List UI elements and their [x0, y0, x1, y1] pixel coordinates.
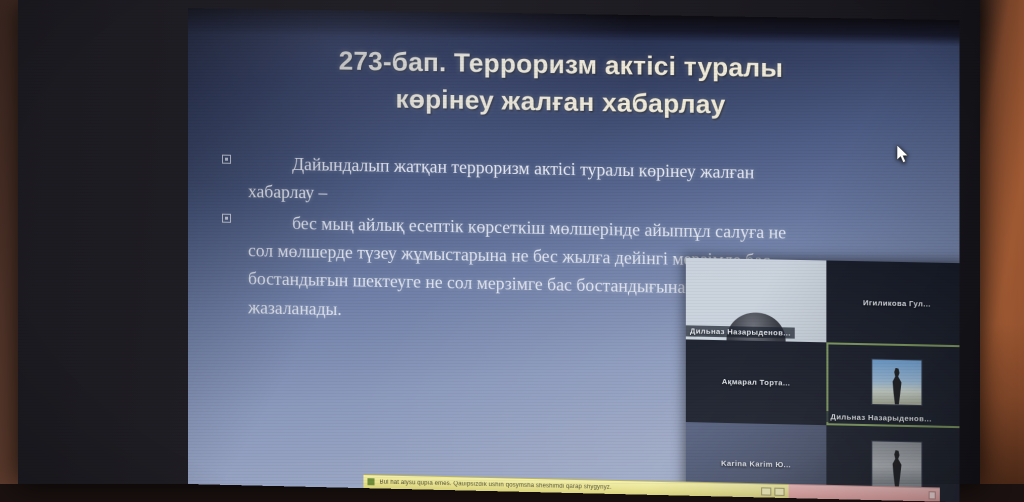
square-bullet-icon [222, 149, 248, 167]
participant-name-3: Ақмарал Торта... [686, 375, 827, 389]
square-bullet-icon [222, 207, 248, 226]
slide-title: 273-бап. Терроризм актісі туралы көрінеу… [208, 40, 916, 126]
security-warning-text: Bul hat alysu qupıa emes. Qauıpsızdık us… [380, 479, 759, 494]
slide-bullet-1: Дайындалып жатқан терроризм актісі турал… [222, 149, 788, 216]
participant-avatar-6 [871, 440, 922, 488]
alert-bar[interactable] [789, 484, 940, 502]
participant-tile-3[interactable]: Ақмарал Торта... [686, 340, 827, 425]
participant-tile-2[interactable]: Игиликова Гул... [826, 261, 959, 346]
screen-top-shadow [188, 8, 959, 46]
slide-bullet-1-text: Дайындалып жатқан терроризм актісі турал… [248, 149, 788, 216]
warning-bar-action-button[interactable] [761, 487, 771, 495]
avatar-figure-icon [889, 368, 905, 405]
participant-name-4: Дильназ Назарыденов... [826, 411, 935, 425]
video-call-participants-panel[interactable]: Дильназ Назарыденов... Игиликова Гул... … [686, 258, 959, 502]
participant-avatar-4 [871, 358, 922, 406]
shield-icon [367, 478, 374, 485]
warning-bar-close-button[interactable] [774, 487, 784, 495]
avatar-figure-icon [889, 450, 905, 487]
monitor-bezel: 273-бап. Терроризм актісі туралы көрінеу… [18, 0, 980, 484]
participant-tile-1[interactable]: Дильназ Назарыденов... [686, 258, 827, 343]
participant-name-1: Дильназ Назарыденов... [686, 326, 795, 339]
alert-bar-button[interactable] [929, 491, 936, 499]
participant-name-2: Игиликова Гул... [826, 296, 959, 310]
participant-tile-4[interactable]: Дильназ Назарыденов... [826, 343, 959, 428]
participant-name-5: Karina Karim Ю... [686, 457, 827, 471]
monitor-screen: 273-бап. Терроризм актісі туралы көрінеу… [188, 8, 959, 502]
